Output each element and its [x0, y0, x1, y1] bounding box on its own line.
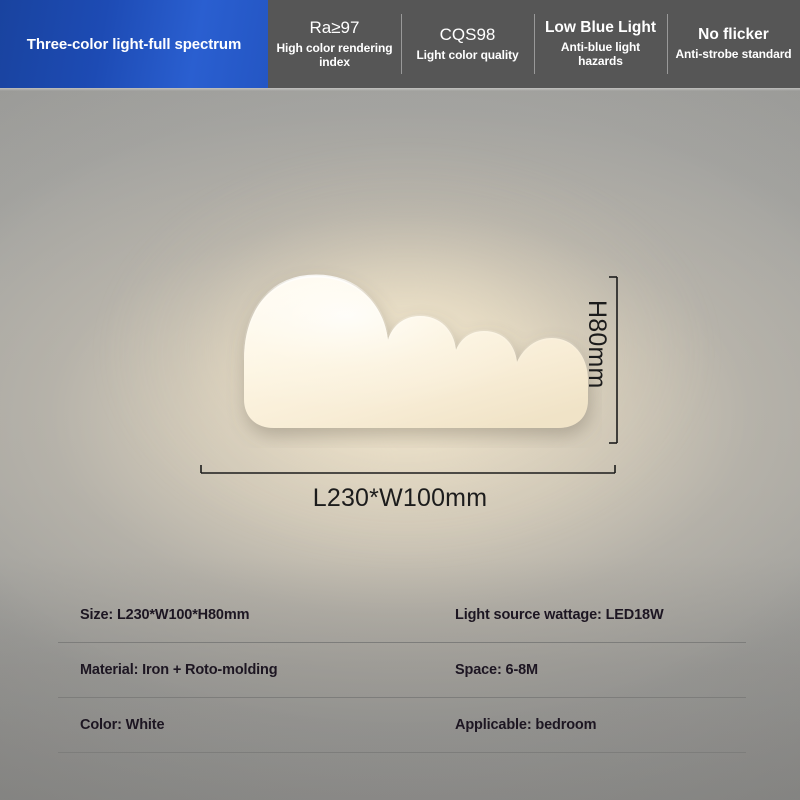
spec-material: Material: Iron + Roto-molding — [58, 662, 436, 678]
specification-table: Size: L230*W100*H80mm Light source watta… — [58, 588, 746, 753]
feature-cqs: CQS98 Light color quality — [401, 0, 534, 88]
table-row: Material: Iron + Roto-molding Space: 6-8… — [58, 643, 746, 698]
width-dimension-bracket — [201, 465, 615, 473]
feature-banner: Three-color light-full spectrum Ra≥97 Hi… — [0, 0, 800, 88]
feature-cri-label: High color rendering index — [272, 41, 397, 70]
width-dimension-label: L230*W100mm — [0, 484, 800, 513]
feature-cri-value: Ra≥97 — [310, 18, 360, 38]
feature-cqs-value: CQS98 — [440, 25, 496, 45]
feature-no-flicker: No flicker Anti-strobe standard — [667, 0, 800, 88]
table-row: Size: L230*W100*H80mm Light source watta… — [58, 588, 746, 643]
banner-feature-list: Ra≥97 High color rendering index CQS98 L… — [268, 0, 800, 88]
height-dimension-label: H80mm — [582, 300, 611, 389]
feature-no-flicker-label: Anti-strobe standard — [675, 47, 791, 62]
banner-underline — [0, 88, 800, 91]
feature-no-flicker-value: No flicker — [698, 26, 769, 44]
table-row: Color: White Applicable: bedroom — [58, 698, 746, 753]
spec-color: Color: White — [58, 717, 436, 733]
spec-wattage: Light source wattage: LED18W — [436, 607, 746, 623]
feature-low-blue-light: Low Blue Light Anti-blue light hazards — [534, 0, 667, 88]
spec-space: Space: 6-8M — [436, 662, 746, 678]
product-detail-image: L230*W100mm H80mm Three-color light-full… — [0, 0, 800, 800]
feature-low-blue-light-label: Anti-blue light hazards — [538, 40, 663, 69]
banner-title: Three-color light-full spectrum — [0, 0, 268, 88]
feature-cri: Ra≥97 High color rendering index — [268, 0, 401, 88]
spec-size: Size: L230*W100*H80mm — [58, 607, 436, 623]
spec-applicable: Applicable: bedroom — [436, 717, 746, 733]
feature-low-blue-light-value: Low Blue Light — [545, 19, 656, 37]
feature-cqs-label: Light color quality — [416, 48, 518, 63]
